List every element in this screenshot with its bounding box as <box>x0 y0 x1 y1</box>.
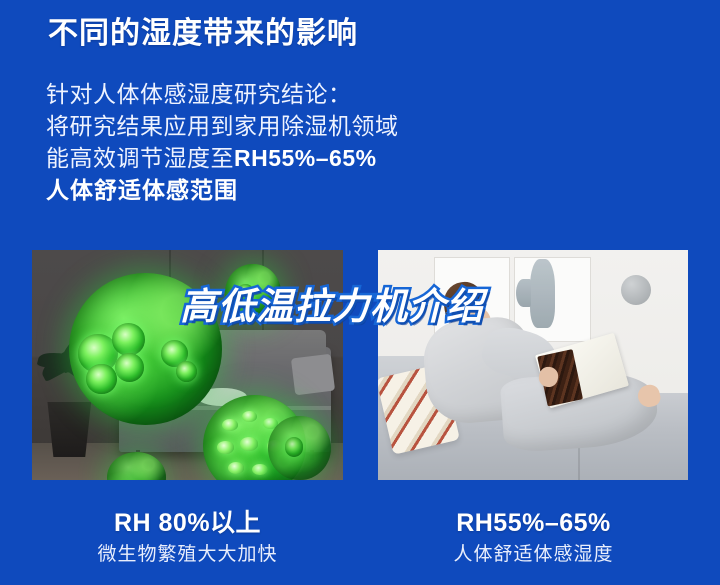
microbe-spike <box>217 441 233 453</box>
microbe-spike <box>252 464 267 475</box>
intro-line-4: 人体舒适体感范围 <box>46 174 399 206</box>
intro-line-1: 针对人体体感湿度研究结论： <box>46 78 399 110</box>
intro-paragraph: 针对人体体感湿度研究结论： 将研究结果应用到家用除湿机领域 能高效调节湿度至RH… <box>46 78 399 206</box>
caption-left-sub: 微生物繁殖大大加快 <box>32 541 343 568</box>
caption-left: RH 80%以上 微生物繁殖大大加快 <box>32 508 343 568</box>
page-title: 不同的湿度带来的影响 <box>48 17 358 52</box>
microbe-cell <box>285 437 304 456</box>
dark-cushion <box>291 353 336 394</box>
poster-canvas: 不同的湿度带来的影响 针对人体体感湿度研究结论： 将研究结果应用到家用除湿机领域… <box>0 0 720 585</box>
caption-right-sub: 人体舒适体感湿度 <box>378 541 689 568</box>
caption-right: RH55%–65% 人体舒适体感湿度 <box>378 508 689 568</box>
caption-right-main: RH55%–65% <box>378 508 689 538</box>
intro-line-3-prefix: 能高效调节湿度至 <box>46 145 234 171</box>
microbe-spike <box>228 462 244 474</box>
intro-line-3: 能高效调节湿度至RH55%–65% <box>46 142 399 174</box>
microbe-spike <box>240 437 258 450</box>
caption-left-main: RH 80%以上 <box>32 508 343 538</box>
humidity-range-emphasis: RH55%–65% <box>234 145 377 171</box>
overlay-banner-title: 高低温拉力机介绍 <box>180 276 484 330</box>
intro-line-2: 将研究结果应用到家用除湿机领域 <box>46 110 399 142</box>
microbe-sphere-small <box>268 416 330 480</box>
microbe-cell <box>86 364 116 394</box>
